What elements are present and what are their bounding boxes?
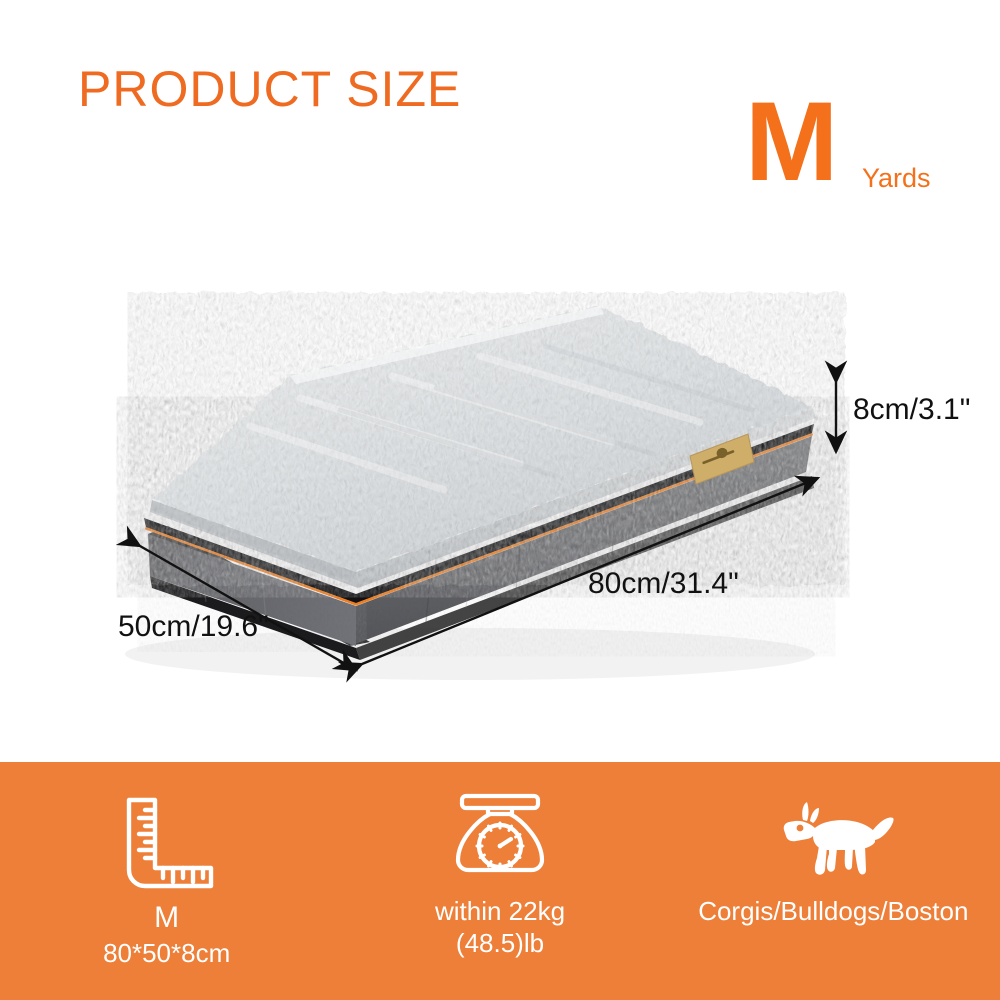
brand-logo: M Yards bbox=[745, 100, 960, 205]
height-dimension-label: 8cm/3.1" bbox=[853, 393, 970, 427]
width-dimension-label: 80cm/31.4" bbox=[588, 567, 739, 601]
feature-size: M 80*50*8cm bbox=[0, 762, 333, 1000]
dog-icon bbox=[769, 784, 897, 896]
size-letter-label: M bbox=[154, 900, 179, 937]
feature-weight: within 22kg (48.5)lb bbox=[333, 762, 666, 1000]
feature-breeds: Corgis/Bulldogs/Boston bbox=[667, 762, 1000, 1000]
weight-scale-icon bbox=[448, 784, 552, 896]
brand-name: Yards bbox=[862, 163, 931, 194]
breeds-label: Corgis/Bulldogs/Boston bbox=[698, 896, 968, 928]
page-title: PRODUCT SIZE bbox=[78, 60, 461, 118]
weight-kg-label: within 22kg bbox=[435, 896, 565, 928]
brand-size-letter: M bbox=[745, 86, 836, 198]
pet-bed-illustration bbox=[0, 250, 1000, 720]
weight-lb-label: (48.5)lb bbox=[456, 928, 544, 960]
depth-dimension-label: 50cm/19.6" bbox=[118, 610, 269, 644]
specs-banner: M 80*50*8cm bbox=[0, 762, 1000, 1000]
product-image bbox=[0, 250, 1000, 720]
size-measurements-label: 80*50*8cm bbox=[103, 938, 230, 970]
ruler-icon bbox=[115, 784, 219, 896]
